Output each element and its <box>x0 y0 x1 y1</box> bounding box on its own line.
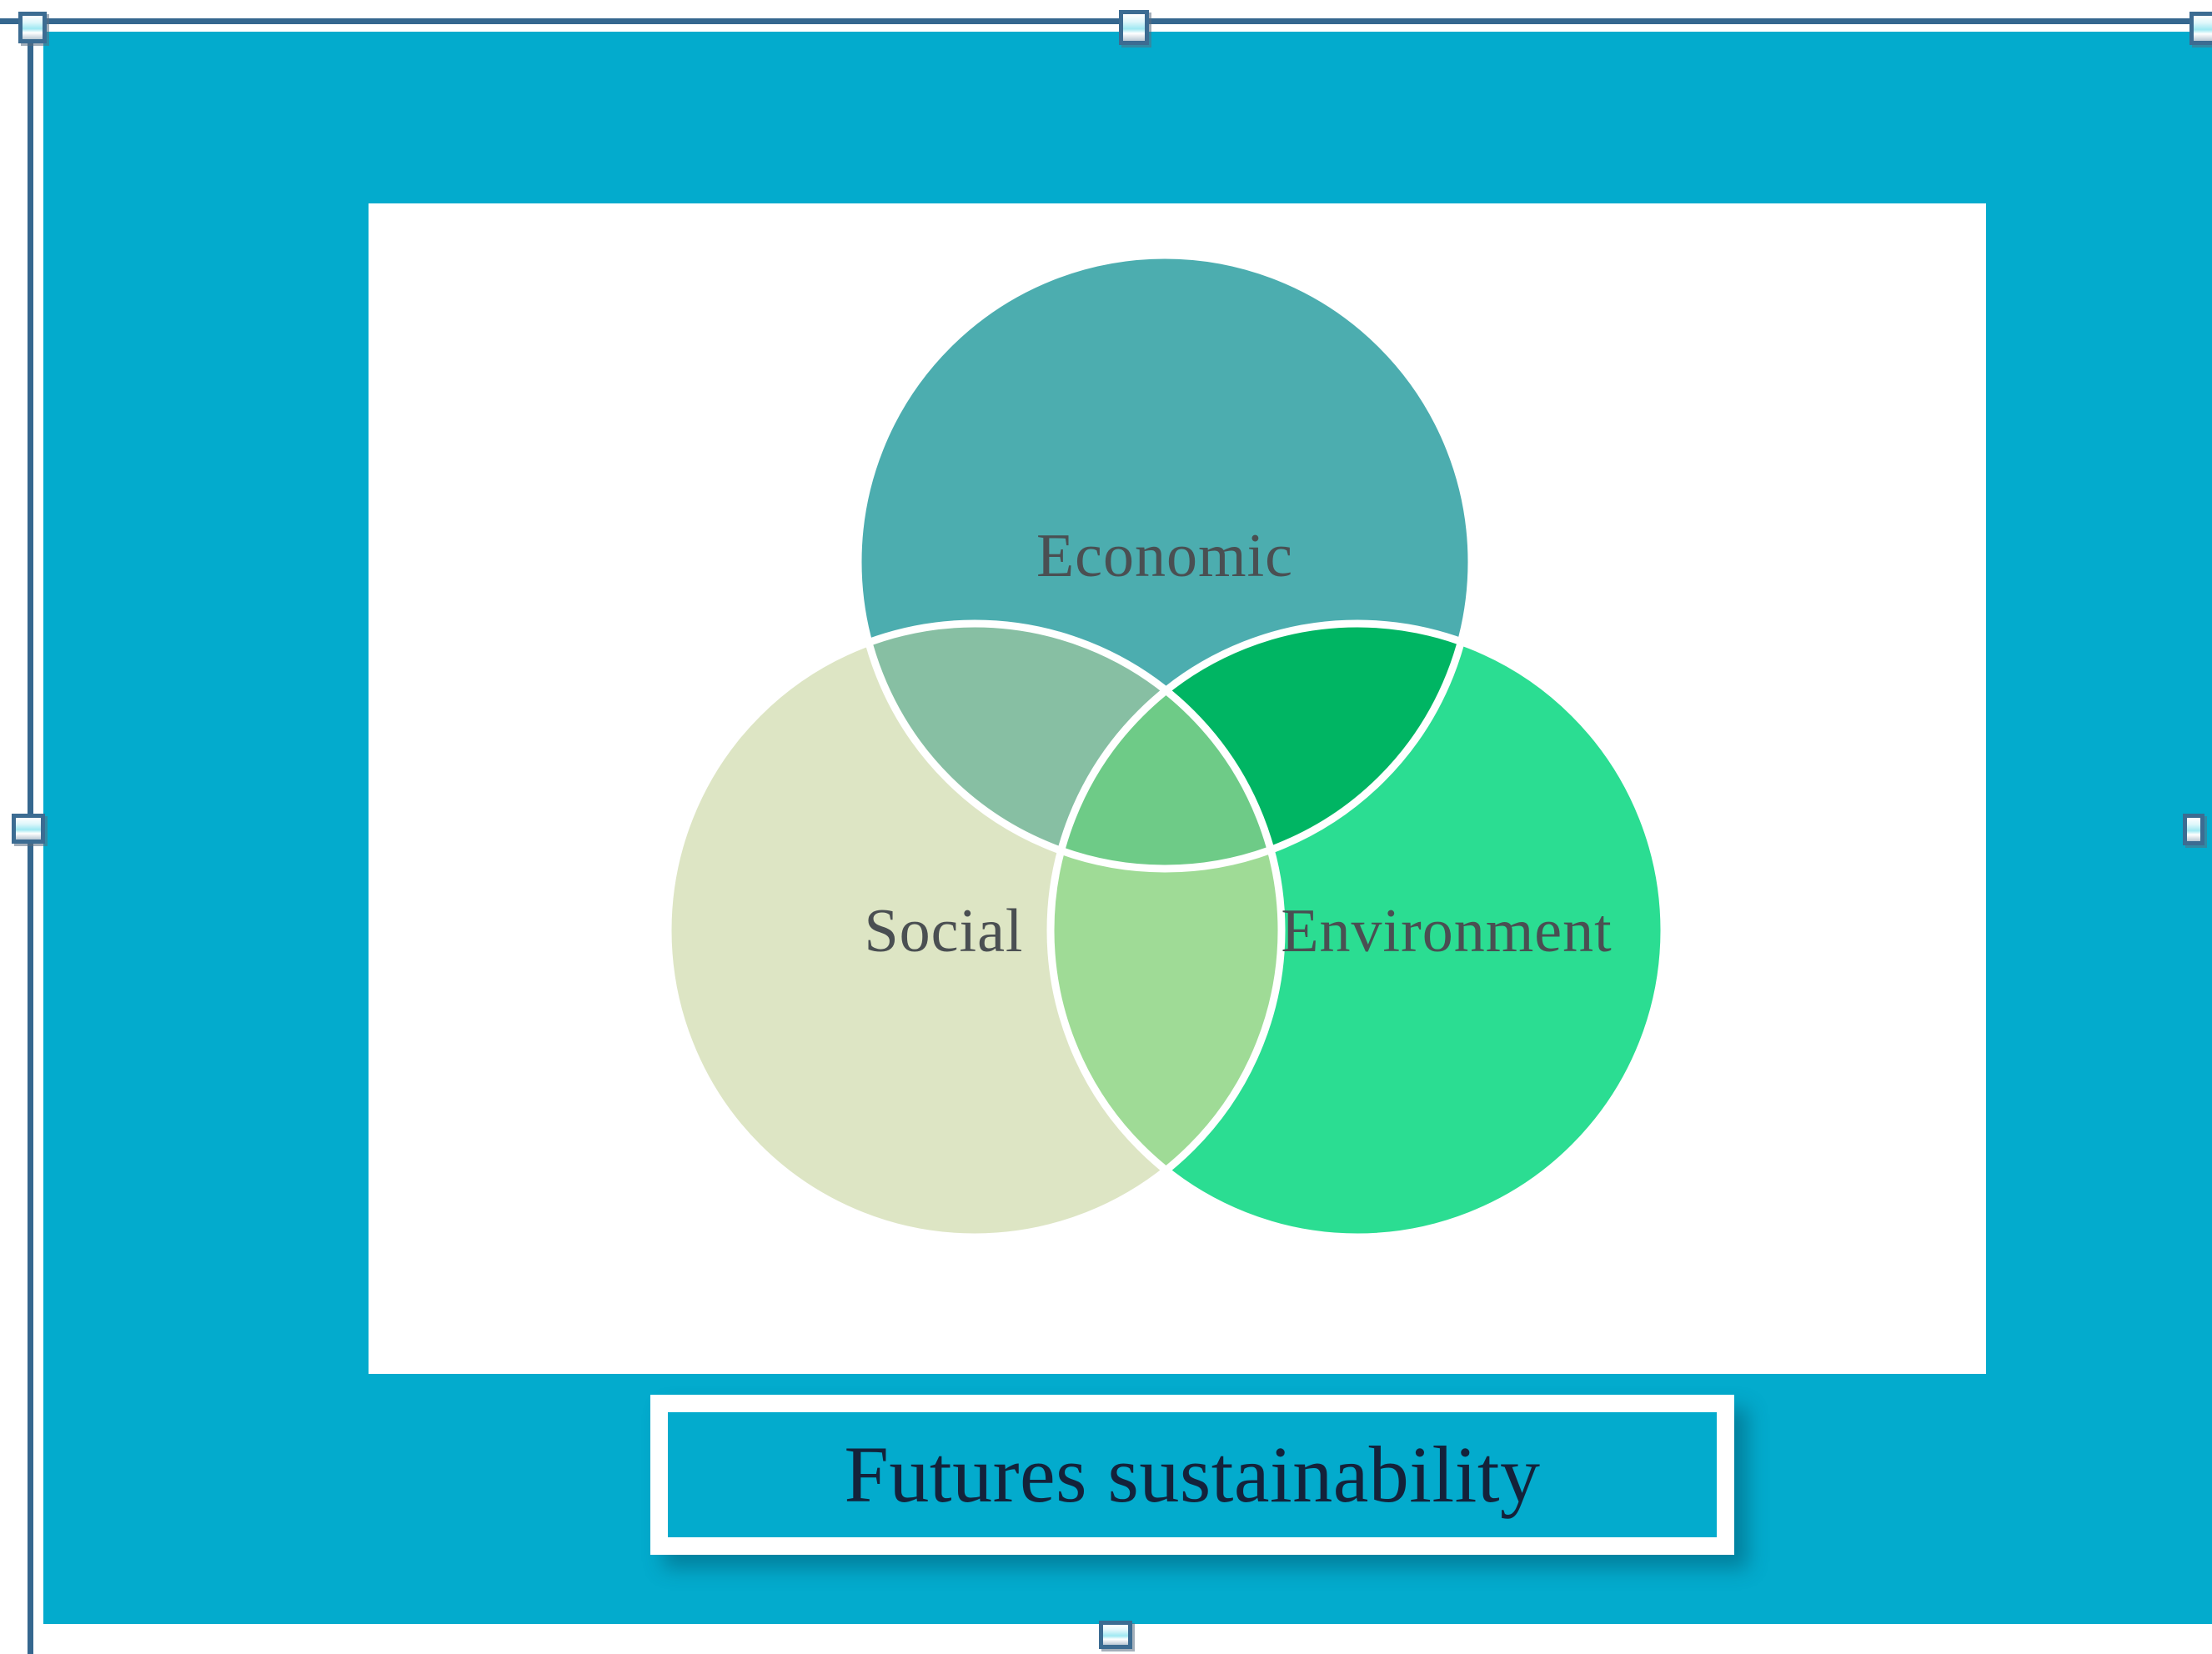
resize-handle-top-right[interactable] <box>2189 12 2212 45</box>
venn-label-social: Social <box>865 897 1024 965</box>
selected-shape-object[interactable]: Economic Social Environment Futures sust… <box>43 32 2212 1624</box>
resize-handle-top-left[interactable] <box>18 12 47 43</box>
venn-label-environment: Environment <box>1281 897 1612 965</box>
resize-handle-middle-left[interactable] <box>12 814 45 844</box>
resize-handle-middle-right[interactable] <box>2183 814 2204 845</box>
venn-label-economic: Economic <box>1036 522 1293 590</box>
venn-diagram-svg: Economic Social Environment <box>369 203 1986 1374</box>
resize-handle-top-center[interactable] <box>1119 10 1149 45</box>
screenshot-canvas: Economic Social Environment Futures sust… <box>0 0 2212 1654</box>
venn-diagram-panel[interactable]: Economic Social Environment <box>369 203 1986 1374</box>
resize-handle-bottom-center[interactable] <box>1099 1621 1132 1649</box>
diagram-title: Futures sustainability <box>845 1435 1541 1515</box>
selection-rule-top <box>0 18 2212 24</box>
title-card[interactable]: Futures sustainability <box>650 1395 1734 1555</box>
title-card-inner: Futures sustainability <box>668 1412 1717 1537</box>
